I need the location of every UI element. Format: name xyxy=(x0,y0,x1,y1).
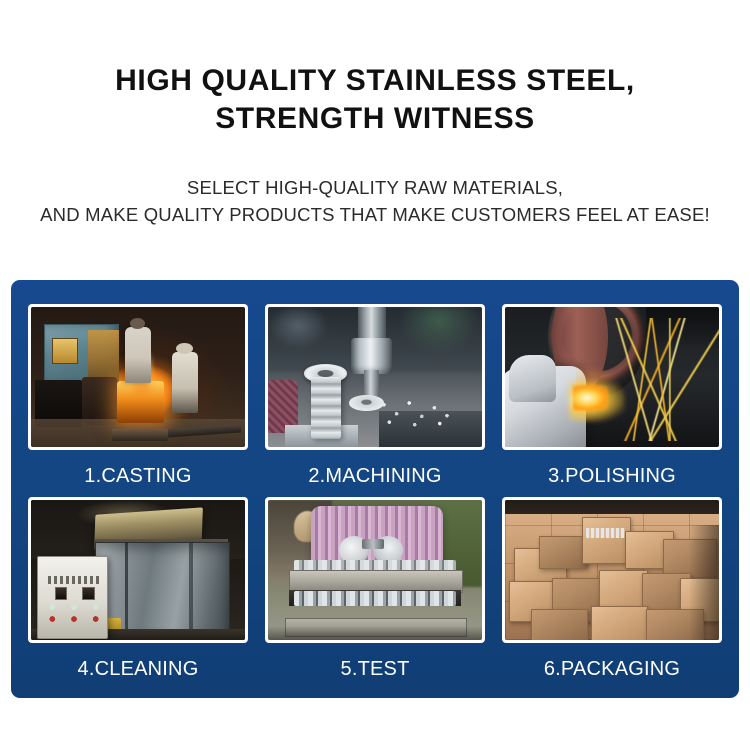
photo-packaging xyxy=(505,500,719,640)
parts-row-lower-shape xyxy=(294,591,457,606)
carton-box xyxy=(539,536,588,569)
photo-machining xyxy=(268,307,482,447)
cabinet-display-left-shape xyxy=(55,587,68,600)
process-step-packaging: 6.PACKAGING xyxy=(502,497,722,688)
tank-seam-second-shape xyxy=(189,542,192,632)
photo-frame-cleaning xyxy=(28,497,248,643)
page-subtitle: SELECT HIGH-QUALITY RAW MATERIALS, AND M… xyxy=(15,138,735,228)
caption-casting: 1.CASTING xyxy=(84,450,191,488)
right-shadow-shape xyxy=(689,525,719,640)
worker-standing-shape xyxy=(172,352,198,414)
marketing-banner-page: HIGH QUALITY STAINLESS STEEL, STRENGTH W… xyxy=(0,0,750,750)
grinding-contact-point-shape xyxy=(573,385,607,410)
cabinet-label-shape xyxy=(48,576,99,584)
carton-box xyxy=(531,609,589,640)
subheadline-line-1: SELECT HIGH-QUALITY RAW MATERIALS, xyxy=(15,174,735,201)
process-step-polishing: 3.POLISHING xyxy=(502,304,722,495)
foundry-drum-shape xyxy=(82,377,116,425)
caption-cleaning: 4.CLEANING xyxy=(78,643,199,681)
control-cabinet-shape xyxy=(37,556,107,639)
photo-cleaning xyxy=(31,500,245,640)
process-step-cleaning: 4.CLEANING xyxy=(28,497,248,688)
caption-test: 5.TEST xyxy=(341,643,410,681)
process-step-test: 5.TEST xyxy=(265,497,485,688)
tank-seam-shape xyxy=(125,542,128,632)
process-grid: 1.CASTING xyxy=(28,304,722,688)
page-title: HIGH QUALITY STAINLESS STEEL, STRENGTH W… xyxy=(65,62,685,138)
process-step-casting: 1.CASTING xyxy=(28,304,248,495)
cabinet-display-right-shape xyxy=(82,587,95,600)
caption-packaging: 6.PACKAGING xyxy=(544,643,680,681)
caption-machining: 2.MACHINING xyxy=(308,450,441,488)
cabinet-buttons-shape xyxy=(44,602,104,624)
process-panel: 1.CASTING xyxy=(11,280,739,698)
photo-frame-test xyxy=(265,497,485,643)
machined-part-stack-shape xyxy=(311,377,341,439)
headline-line-1: HIGH QUALITY STAINLESS STEEL, xyxy=(65,62,685,100)
headline-line-2: STRENGTH WITNESS xyxy=(65,100,685,138)
carton-box-labeled xyxy=(582,517,631,564)
inspected-part-shape xyxy=(362,539,383,549)
metal-chips-shape xyxy=(375,394,465,430)
gloved-hand-second-shape xyxy=(509,355,556,403)
photo-casting xyxy=(31,307,245,447)
foreground-shadow-shape xyxy=(268,626,482,640)
process-step-machining: 2.MACHINING xyxy=(265,304,485,495)
photo-frame-packaging xyxy=(502,497,722,643)
header-section: HIGH QUALITY STAINLESS STEEL, STRENGTH W… xyxy=(0,0,750,228)
furnace-control-panel-shape xyxy=(52,338,78,364)
caption-polishing: 3.POLISHING xyxy=(548,450,676,488)
carton-print-label-shape xyxy=(586,528,625,538)
photo-frame-casting xyxy=(28,304,248,450)
photo-frame-polishing xyxy=(502,304,722,450)
tool-chuck-shape xyxy=(351,338,392,374)
subheadline-line-2: AND MAKE QUALITY PRODUCTS THAT MAKE CUST… xyxy=(15,201,735,228)
worker-pouring-shape xyxy=(125,327,151,383)
carton-box xyxy=(591,606,649,640)
photo-frame-machining xyxy=(265,304,485,450)
photo-polishing xyxy=(505,307,719,447)
casting-mold-shape xyxy=(112,429,168,442)
photo-test xyxy=(268,500,482,640)
